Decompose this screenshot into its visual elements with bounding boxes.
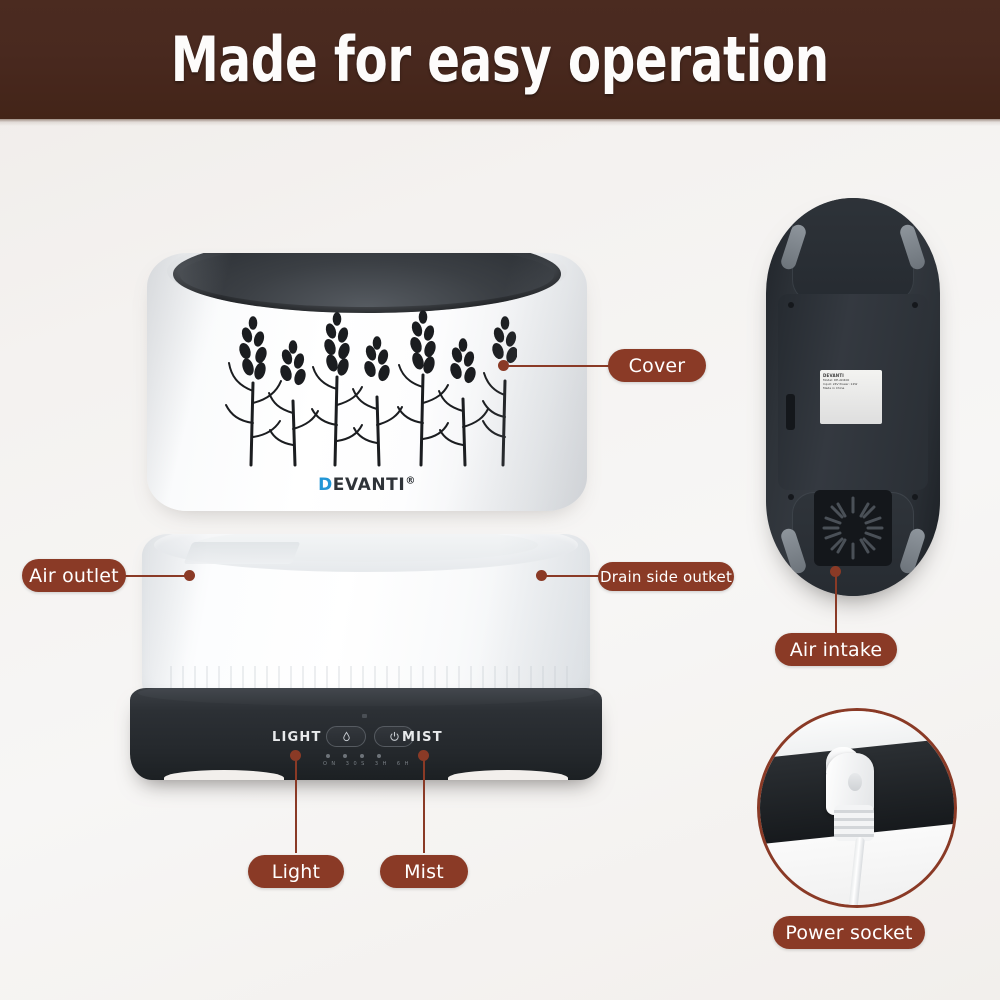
status-led [362,714,367,718]
screw-bottom-right [912,494,918,500]
callout-line-light [295,757,297,853]
lavender-pattern-icon [217,305,517,470]
callout-line-air-outlet [118,575,188,577]
product-rating-label: DEVANTI Model: DE-AD400 Input: 24V Power… [820,370,882,424]
callout-air-intake[interactable]: Air intake [775,633,897,666]
panel-label-light: LIGHT [272,730,322,745]
plug-dimple [848,773,862,791]
device-base: LIGHT ON 30S 3H 6H MIST [130,688,602,780]
screw-top-left [788,302,794,308]
device-bottom-view: DEVANTI Model: DE-AD400 Input: 24V Power… [766,198,940,596]
callout-line-mist [423,757,425,853]
air-intake-grille [814,490,892,566]
header-banner: Made for easy operation [0,0,1000,119]
droplet-power-icon [341,731,352,742]
infographic-page: Made for easy operation [0,0,1000,1000]
banner-shadow [0,119,1000,126]
plug-strain-relief [834,805,874,841]
power-icon [389,731,400,742]
callout-cover[interactable]: Cover [608,349,706,382]
brand-initial: D [318,475,333,495]
timer-led-legend: ON 30S 3H 6H [323,761,413,767]
callout-line-cover [505,365,615,367]
panel-label-mist: MIST [402,730,443,745]
callout-drain-side-outlet[interactable]: Drain side outket [598,562,734,591]
base-top-edge [138,688,594,706]
bottom-recess-top [792,198,914,302]
power-socket-closeup [757,708,957,908]
led-30s [343,754,347,758]
brand-logo: DEVANTI® [147,475,587,495]
led-3h [360,754,364,758]
led-on [326,754,330,758]
callout-light[interactable]: Light [248,855,344,888]
screw-top-right [912,302,918,308]
light-button[interactable] [326,726,366,747]
brand-registered-mark: ® [405,475,416,486]
callout-mist[interactable]: Mist [380,855,468,888]
base-foot-left [164,770,284,780]
tank-highlight [142,534,590,704]
callout-air-outlet[interactable]: Air outlet [22,559,126,592]
fan-grille-icon [814,490,892,566]
water-tank [142,534,590,704]
screw-bottom-left [788,494,794,500]
callout-line-air-intake [835,573,837,633]
led-6h [377,754,381,758]
page-title: Made for easy operation [171,23,829,96]
brand-name: EVANTI [333,475,406,495]
rating-label-line-3: Made in China [823,386,879,390]
lavender-pattern [217,305,517,470]
callout-power-socket[interactable]: Power socket [773,916,925,949]
diffuser-cover: DEVANTI® [147,253,587,511]
callout-line-drain-side [543,575,605,577]
timer-led-row [326,754,381,758]
drain-slot [786,394,795,430]
base-foot-right [448,770,568,780]
